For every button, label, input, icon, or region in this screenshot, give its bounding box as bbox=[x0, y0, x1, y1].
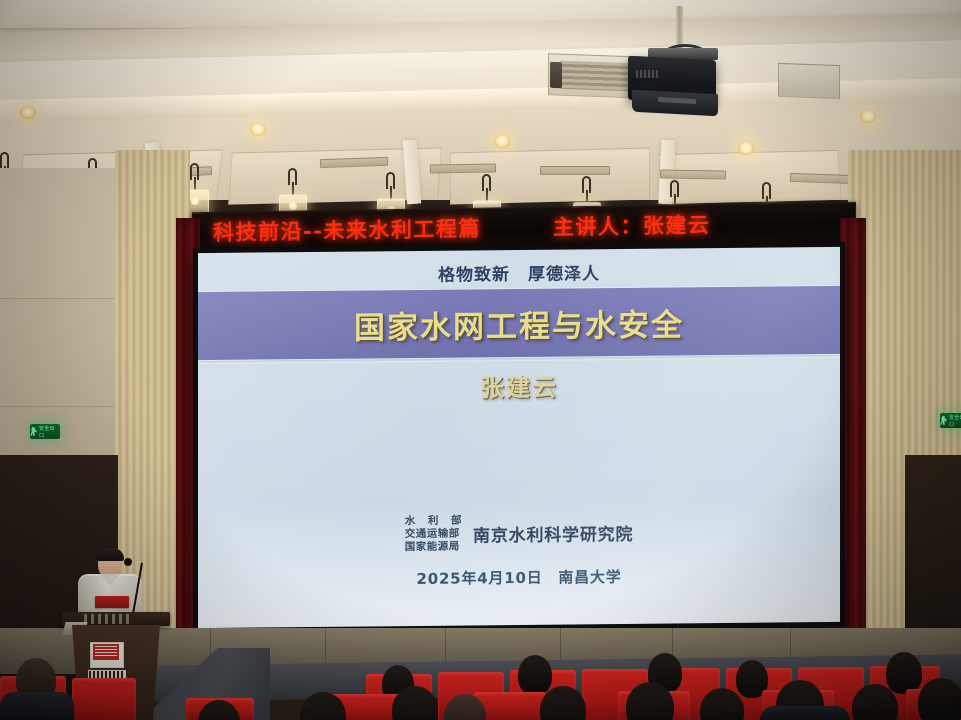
exit-sign-label: 安全出口 bbox=[39, 425, 60, 439]
projector-lens-housing bbox=[632, 90, 718, 117]
slide-org-line-1: 水 利 部 bbox=[405, 515, 466, 529]
podium-seal-icon bbox=[93, 644, 119, 660]
audience-head bbox=[886, 652, 922, 694]
ceiling-vent bbox=[660, 169, 726, 179]
slide-org-line-2: 交通运输部 bbox=[405, 528, 466, 542]
projection-screen-frame: 格物致新 厚德泽人 国家水网工程与水安全 张建云 水 利 部 交通运输部 国家能… bbox=[193, 242, 845, 633]
audience-shoulders bbox=[760, 706, 850, 720]
ceiling-vent bbox=[430, 163, 496, 173]
lecture-hall-photo: 安全出口 安全出口 科技前沿--未来水利工程篇 主讲人：张建云 格物致新 厚德泽… bbox=[0, 0, 961, 720]
wall-seam bbox=[0, 406, 120, 407]
audience-head bbox=[918, 678, 961, 720]
exit-sign-right: 安全出口 bbox=[940, 413, 961, 428]
projection-screen: 格物致新 厚德泽人 国家水网工程与水安全 张建云 水 利 部 交通运输部 国家能… bbox=[198, 247, 840, 628]
recessed-spotlight bbox=[20, 106, 36, 119]
slide-org-line-3: 国家能源局 bbox=[405, 541, 466, 555]
slide-date-venue: 2025年4月10日 南昌大学 bbox=[416, 566, 621, 589]
led-banner-speaker: 主讲人：张建云 bbox=[553, 215, 711, 238]
left-wall-panel bbox=[0, 168, 120, 468]
audience-head bbox=[518, 655, 552, 695]
slide-motto: 格物致新 厚德泽人 bbox=[198, 257, 840, 288]
slide-footer: 水 利 部 交通运输部 国家能源局 南京水利科学研究院 2025年4月10日 南… bbox=[198, 511, 840, 591]
slide-title: 国家水网工程与水安全 bbox=[198, 298, 840, 349]
pendant-bulb bbox=[191, 197, 199, 205]
presenter-hair bbox=[96, 548, 124, 561]
recessed-spotlight bbox=[494, 135, 510, 148]
microphone-icon bbox=[124, 558, 132, 566]
ceiling-vent bbox=[540, 166, 610, 175]
ceiling-speaker bbox=[778, 63, 840, 99]
podium-institution-logo bbox=[84, 614, 132, 624]
seat bbox=[72, 678, 136, 720]
audience-shoulders bbox=[0, 692, 74, 720]
slide-org-ministries: 水 利 部 交通运输部 国家能源局 bbox=[405, 515, 466, 555]
exit-sign-label: 安全出口 bbox=[949, 414, 961, 428]
podium-nameplate bbox=[95, 596, 129, 608]
recessed-spotlight bbox=[250, 123, 266, 136]
led-banner-topic: 科技前沿--未来水利工程篇 bbox=[213, 218, 481, 243]
air-conditioner-side-vent bbox=[550, 62, 562, 88]
slide-org-institute: 南京水利科学研究院 bbox=[473, 520, 633, 547]
running-man-icon bbox=[30, 427, 37, 436]
right-dark-recess bbox=[905, 455, 961, 655]
ceiling-coffer bbox=[450, 148, 650, 205]
recessed-spotlight bbox=[860, 110, 876, 123]
exit-sign-left: 安全出口 bbox=[30, 424, 60, 439]
air-conditioner-grille bbox=[560, 61, 632, 92]
recessed-spotlight bbox=[738, 142, 754, 155]
slide-author: 张建云 bbox=[198, 365, 840, 406]
pendant-bulb bbox=[289, 202, 297, 210]
projector-vent bbox=[636, 70, 658, 78]
slide-organizations: 水 利 部 交通运输部 国家能源局 南京水利科学研究院 bbox=[405, 513, 634, 554]
wall-seam bbox=[0, 298, 120, 299]
running-man-icon bbox=[940, 416, 947, 425]
